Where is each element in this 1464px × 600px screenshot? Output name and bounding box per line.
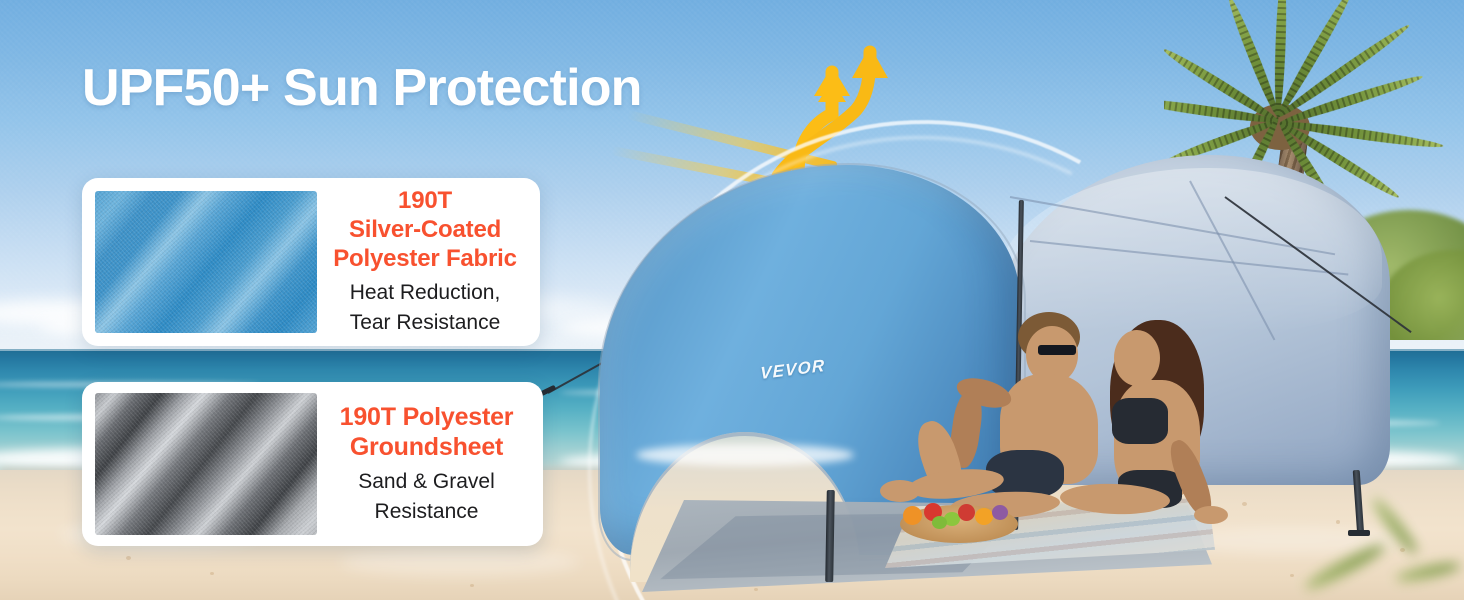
sand-speck: [126, 556, 131, 560]
groundsheet-swatch-image: [95, 393, 317, 535]
fabric-swatch-image: [95, 191, 317, 333]
feature-card-subtitle: Sand & Gravel Resistance: [323, 467, 530, 526]
page-title: UPF50+ Sun Protection: [82, 60, 642, 116]
sand-speck: [210, 572, 214, 575]
feature-card-groundsheet[interactable]: 190T Polyester Groundsheet Sand & Gravel…: [82, 382, 543, 546]
feature-card-title: 190T Silver-Coated Polyester Fabric: [323, 187, 527, 273]
sand-speck: [1336, 520, 1340, 524]
feature-sub-line: Sand & Gravel: [323, 467, 530, 496]
feature-sub-line: Resistance: [323, 497, 530, 526]
sunglasses-icon: [1038, 345, 1076, 355]
sand-dune: [340, 548, 580, 576]
feature-sub-line: Heat Reduction,: [323, 278, 527, 307]
feature-card-title: 190T Polyester Groundsheet: [323, 402, 530, 462]
woman-bikini-top: [1112, 398, 1168, 444]
feature-card-subtitle: Heat Reduction, Tear Resistance: [323, 278, 527, 337]
feature-sub-line: Tear Resistance: [323, 308, 527, 337]
tent-pole: [825, 490, 835, 582]
feature-card-text: 190T Silver-Coated Polyester Fabric Heat…: [317, 187, 527, 337]
feature-title-line: Silver-Coated: [323, 216, 527, 245]
feature-title-line: Polyester Fabric: [323, 245, 527, 274]
feature-title-line: Groundsheet: [323, 432, 530, 462]
feature-title-line: 190T Polyester: [323, 402, 530, 432]
kiwi-fruit: [932, 516, 947, 529]
man-foot: [880, 480, 920, 502]
apple-fruit: [958, 504, 975, 521]
feature-card-fabric[interactable]: 190T Silver-Coated Polyester Fabric Heat…: [82, 178, 540, 346]
sand-speck: [470, 584, 474, 587]
feature-title-line: 190T: [323, 187, 527, 216]
orange-fruit: [903, 506, 922, 525]
product-banner: VEVOR UPF50+ Sun Protection: [0, 0, 1464, 600]
sand-speck: [1400, 548, 1405, 552]
tent-arch-foam: [636, 444, 854, 466]
woman-hand: [1194, 506, 1228, 524]
orange-fruit: [975, 508, 993, 525]
tent-stake: [1348, 530, 1370, 536]
feature-card-text: 190T Polyester Groundsheet Sand & Gravel…: [317, 402, 530, 526]
sand-speck: [1290, 574, 1294, 577]
grape-fruit: [992, 505, 1008, 520]
woman-head: [1114, 330, 1160, 386]
